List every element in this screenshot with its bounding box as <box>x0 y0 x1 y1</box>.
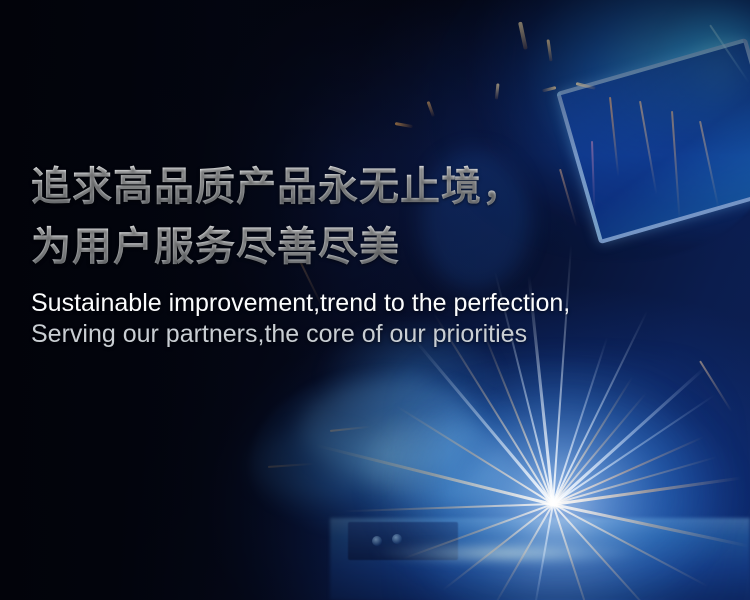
spark-streak <box>709 24 750 83</box>
spark-streak <box>495 83 500 99</box>
spark-streak <box>427 101 435 117</box>
banner-copy-block: 追求高品质产品永无止境， 为用户服务尽善尽美 Sustainable impro… <box>31 158 721 350</box>
spark-streak <box>547 39 553 61</box>
spark-streak <box>699 360 732 412</box>
spark-streak <box>542 86 556 92</box>
headline-line-1: 追求高品质产品永无止境， <box>31 158 721 216</box>
spark-streak <box>518 22 528 50</box>
subheadline-line-2: Serving our partners,the core of our pri… <box>31 319 721 350</box>
spark-streak <box>330 426 370 432</box>
spark-streak <box>268 463 314 468</box>
headline-line-2: 为用户服务尽善尽美 <box>31 218 721 276</box>
spark-streak <box>576 82 596 90</box>
hero-banner: 追求高品质产品永无止境， 为用户服务尽善尽美 Sustainable impro… <box>0 0 750 600</box>
subheadline-line-1: Sustainable improvement,trend to the per… <box>31 288 721 319</box>
spark-streak <box>395 122 413 128</box>
